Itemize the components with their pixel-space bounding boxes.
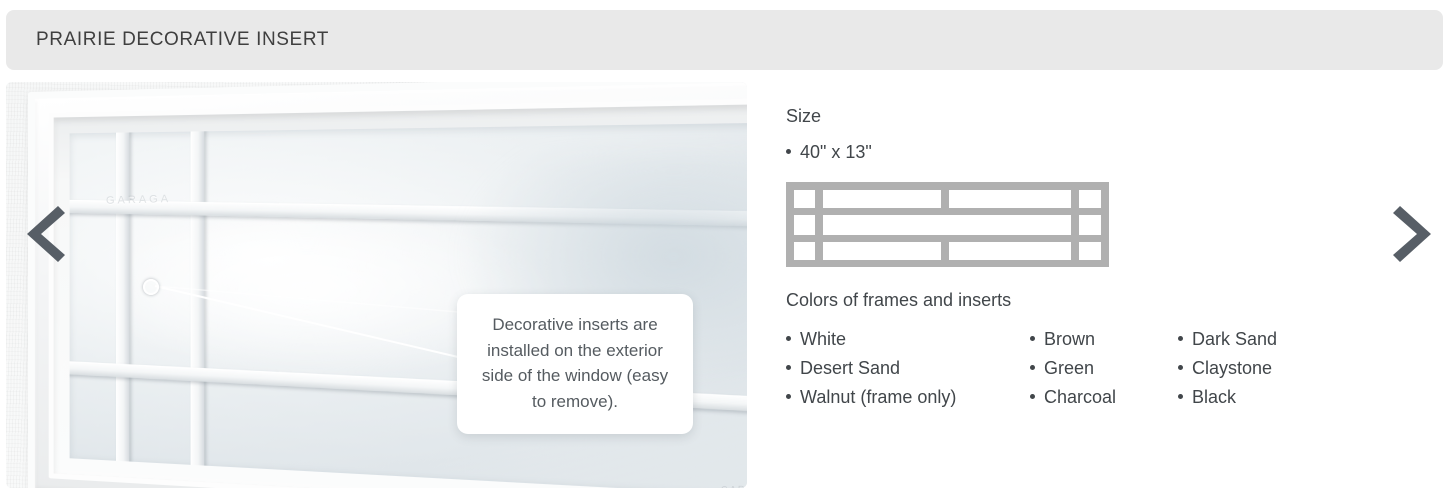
colors-column-3: Dark Sand Claystone Black (1178, 325, 1277, 412)
product-header-bar: PRAIRIE DECORATIVE INSERT (6, 10, 1443, 70)
colors-column-1: White Desert Sand Walnut (frame only) (786, 325, 956, 412)
carousel-next-button[interactable] (1390, 203, 1434, 265)
carousel-prev-button[interactable] (24, 203, 68, 265)
color-item: Claystone (1178, 354, 1277, 383)
bullet-icon (1030, 394, 1035, 399)
chevron-right-icon (1390, 203, 1434, 265)
callout-tooltip: Decorative inserts are installed on the … (457, 294, 693, 434)
prairie-pattern-diagram (786, 182, 1109, 267)
color-label: White (800, 329, 846, 349)
door-emboss-branding-secondary: GARAGA (721, 484, 747, 488)
color-label: Green (1044, 358, 1094, 378)
color-label: Desert Sand (800, 358, 900, 378)
color-item: Desert Sand (786, 354, 956, 383)
color-item: Green (1030, 354, 1116, 383)
bullet-icon (1178, 365, 1183, 370)
bullet-icon (786, 394, 791, 399)
color-item: Walnut (frame only) (786, 383, 956, 412)
color-item: Brown (1030, 325, 1116, 354)
color-item: Charcoal (1030, 383, 1116, 412)
bullet-icon (786, 149, 791, 154)
bullet-icon (786, 336, 791, 341)
product-image-panel: GARAGA GARAGA Decorative inserts are ins… (6, 82, 747, 488)
color-label: Black (1192, 387, 1236, 407)
chevron-left-icon (24, 203, 68, 265)
color-label: Dark Sand (1192, 329, 1277, 349)
color-label: Brown (1044, 329, 1095, 349)
muntin-vertical-left-outer (116, 126, 129, 463)
color-label: Walnut (frame only) (800, 387, 956, 407)
callout-anchor-dot (143, 279, 159, 295)
color-item: Dark Sand (1178, 325, 1277, 354)
bullet-icon (1030, 336, 1035, 341)
page-title: PRAIRIE DECORATIVE INSERT (36, 29, 329, 51)
size-value-item: 40" x 13" (786, 142, 872, 163)
colors-column-2: Brown Green Charcoal (1030, 325, 1116, 412)
bullet-icon (1178, 394, 1183, 399)
color-item: Black (1178, 383, 1277, 412)
color-item: White (786, 325, 956, 354)
colors-heading: Colors of frames and inserts (786, 290, 1011, 311)
color-label: Claystone (1192, 358, 1272, 378)
bullet-icon (1178, 336, 1183, 341)
bullet-icon (786, 365, 791, 370)
bullet-icon (1030, 365, 1035, 370)
size-value: 40" x 13" (800, 142, 872, 162)
content-area: GARAGA GARAGA Decorative inserts are ins… (0, 82, 1456, 488)
muntin-vertical-left-inner (191, 125, 205, 474)
door-emboss-branding: GARAGA (106, 193, 171, 207)
size-heading: Size (786, 106, 821, 127)
color-label: Charcoal (1044, 387, 1116, 407)
